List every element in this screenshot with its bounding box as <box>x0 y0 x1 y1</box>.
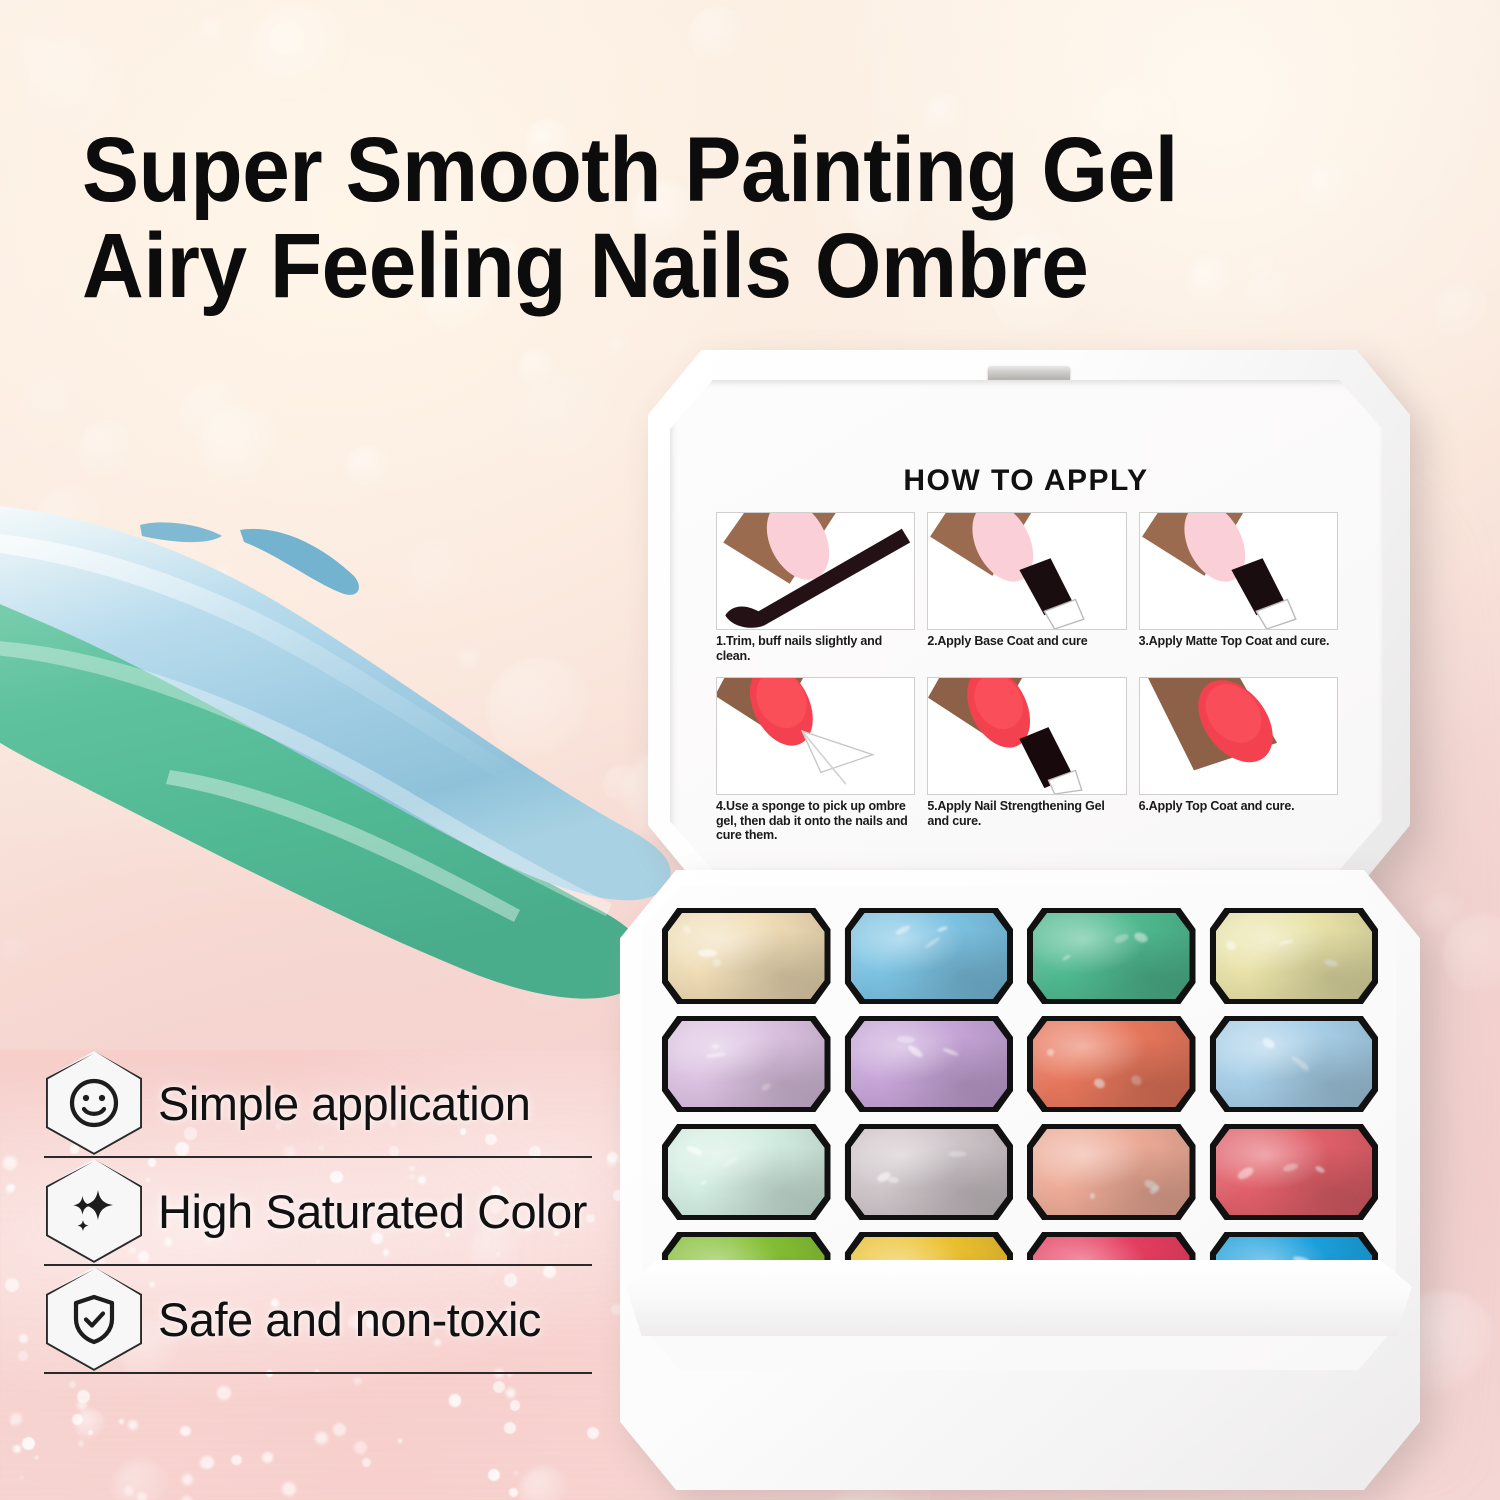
how-to-apply-step: 1.Trim, buff nails slightly and clean. <box>716 512 915 663</box>
sparkle-icon <box>46 1159 142 1263</box>
gel-color-swatch <box>1216 913 1373 999</box>
how-to-apply-step: 2.Apply Base Coat and cure <box>927 512 1126 663</box>
gel-highlight <box>1093 1077 1107 1090</box>
gel-highlight <box>1046 1047 1056 1057</box>
gel-highlight <box>1133 930 1150 944</box>
gel-highlight <box>760 1082 772 1092</box>
how-to-apply-step: 5.Apply Nail Strengthening Gel and cure. <box>927 677 1126 843</box>
gel-highlight <box>706 1052 726 1059</box>
feature-list: Simple application High Saturated Color <box>42 1050 662 1374</box>
gel-color-pan[interactable] <box>1027 908 1196 1004</box>
gel-highlight <box>698 948 717 956</box>
title-line-2: Airy Feeling Nails Ombre <box>82 218 1365 314</box>
gel-color-swatch <box>668 1129 825 1215</box>
gel-highlight <box>1148 1184 1160 1195</box>
smiley-icon <box>46 1051 142 1155</box>
feature-icon-wrap <box>42 1159 146 1263</box>
gel-highlight <box>1282 1162 1298 1173</box>
gel-highlight <box>686 1145 704 1158</box>
gel-highlight <box>924 936 940 948</box>
gel-highlight <box>712 959 721 968</box>
feature-item-safe-non-toxic: Safe and non-toxic <box>42 1266 662 1372</box>
step-illustration <box>1139 677 1338 795</box>
gel-color-pan[interactable] <box>845 908 1014 1004</box>
gel-highlight <box>1225 939 1237 951</box>
gel-color-swatch <box>851 913 1008 999</box>
feature-label: Simple application <box>158 1076 530 1131</box>
gel-color-pan[interactable] <box>845 1124 1014 1220</box>
gel-highlight <box>1261 1037 1276 1051</box>
step-illustration <box>716 677 915 795</box>
gel-color-swatch <box>1033 1021 1190 1107</box>
gel-highlight <box>1299 1064 1310 1073</box>
how-to-apply-step: 4.Use a sponge to pick up ombre gel, the… <box>716 677 915 843</box>
step-illustration <box>716 512 915 630</box>
gel-color-swatch <box>1033 913 1190 999</box>
feature-item-simple-application: Simple application <box>42 1050 662 1156</box>
how-to-apply-step: 3.Apply Matte Top Coat and cure. <box>1139 512 1338 663</box>
feature-divider-3 <box>44 1372 592 1374</box>
gel-highlight <box>1114 932 1130 944</box>
gel-highlight <box>1129 1073 1143 1087</box>
gel-highlight <box>682 924 692 935</box>
gel-highlight <box>876 1171 892 1184</box>
lid-inner-panel: HOW TO APPLY 1.Trim, buff nails slightly… <box>670 380 1382 870</box>
gel-highlight <box>700 1180 707 1185</box>
gel-highlight <box>895 924 912 937</box>
gel-palette-case: HOW TO APPLY 1.Trim, buff nails slightly… <box>620 350 1420 1490</box>
feature-item-high-saturated-color: High Saturated Color <box>42 1158 662 1264</box>
gel-color-swatch <box>668 913 825 999</box>
gel-color-pan[interactable] <box>1210 1124 1379 1220</box>
gel-color-pan[interactable] <box>1210 1016 1379 1112</box>
gel-color-swatch <box>668 1021 825 1107</box>
gel-highlight <box>721 1156 739 1169</box>
feature-label: Safe and non-toxic <box>158 1292 541 1347</box>
step-caption: 5.Apply Nail Strengthening Gel and cure. <box>927 799 1126 828</box>
gel-highlight <box>948 1151 967 1157</box>
step-illustration <box>927 512 1126 630</box>
smear-flick-right <box>240 529 359 595</box>
gel-highlight <box>897 1035 915 1043</box>
gel-highlight <box>1324 958 1339 967</box>
gel-color-pan[interactable] <box>662 908 831 1004</box>
gel-highlight <box>1278 939 1294 946</box>
shield-check-icon <box>46 1267 142 1371</box>
gel-color-swatch <box>1216 1021 1373 1107</box>
how-to-apply-step: 6.Apply Top Coat and cure. <box>1139 677 1338 843</box>
gel-highlight <box>711 1044 718 1049</box>
gel-color-pan[interactable] <box>1210 908 1379 1004</box>
how-to-apply-heading: HOW TO APPLY <box>670 464 1382 498</box>
gel-color-swatch <box>1033 1129 1190 1215</box>
gel-color-pan[interactable] <box>662 1016 831 1112</box>
step-illustration <box>1139 512 1338 630</box>
base-front-lip <box>626 1260 1412 1336</box>
step-caption: 2.Apply Base Coat and cure <box>927 634 1126 649</box>
step-caption: 4.Use a sponge to pick up ombre gel, the… <box>716 799 915 843</box>
gel-highlight <box>1062 953 1072 960</box>
title-line-1: Super Smooth Painting Gel <box>82 122 1365 218</box>
page-title: Super Smooth Painting Gel Airy Feeling N… <box>82 122 1462 314</box>
gel-highlight <box>937 925 949 932</box>
gel-color-swatch <box>1216 1129 1373 1215</box>
feature-icon-wrap <box>42 1051 146 1155</box>
gel-highlight <box>1143 1178 1160 1192</box>
gel-highlight <box>942 1047 960 1057</box>
gel-color-swatch <box>851 1129 1008 1215</box>
gel-highlight <box>1314 1165 1325 1174</box>
how-to-apply-steps: 1.Trim, buff nails slightly and clean. 2… <box>716 512 1338 843</box>
gel-highlight <box>888 1176 900 1183</box>
step-illustration <box>927 677 1126 795</box>
gel-color-pan[interactable] <box>1027 1124 1196 1220</box>
step-caption: 6.Apply Top Coat and cure. <box>1139 799 1338 814</box>
smear-flick-left <box>140 522 222 542</box>
step-caption: 1.Trim, buff nails slightly and clean. <box>716 634 915 663</box>
gel-color-pan[interactable] <box>1027 1016 1196 1112</box>
feature-label: High Saturated Color <box>158 1184 587 1239</box>
feature-icon-wrap <box>42 1267 146 1371</box>
palette-lid: HOW TO APPLY 1.Trim, buff nails slightly… <box>648 350 1410 890</box>
palette-base <box>620 870 1420 1490</box>
gel-highlight <box>1290 1055 1309 1070</box>
gel-color-swatch <box>851 1021 1008 1107</box>
gel-color-pan[interactable] <box>662 1124 831 1220</box>
gel-color-pan[interactable] <box>845 1016 1014 1112</box>
gel-highlight <box>1090 1192 1096 1199</box>
gel-highlight <box>907 1044 925 1059</box>
gel-highlight <box>1236 1165 1255 1181</box>
step-caption: 3.Apply Matte Top Coat and cure. <box>1139 634 1338 649</box>
